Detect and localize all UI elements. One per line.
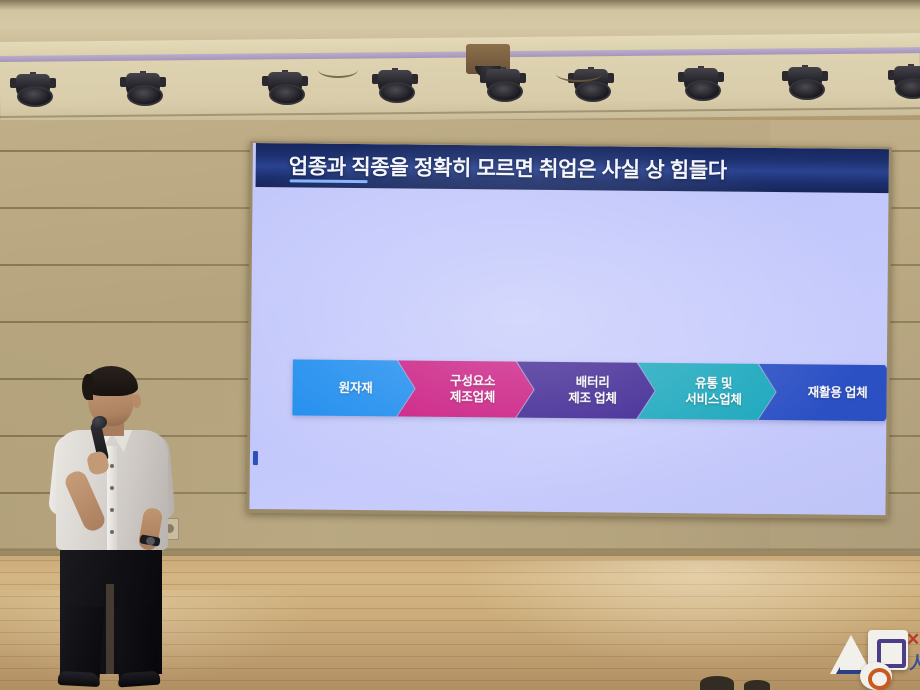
slide-surface: 업종과 직종을 정확히 모르면 취업은 사실 상 힘들다 원자재구성요소 제조업… bbox=[249, 143, 888, 515]
presenter-shirt-button bbox=[110, 486, 114, 490]
stage-par-light-8 bbox=[782, 65, 828, 99]
slide-title-underline bbox=[290, 179, 368, 183]
projection-screen: 업종과 직종을 정확히 모르면 취업은 사실 상 힘들다 원자재구성요소 제조업… bbox=[246, 141, 892, 519]
chevron-step-label: 유통 및 서비스업체 bbox=[685, 375, 742, 408]
presenter-hair-side bbox=[82, 374, 93, 400]
stage-par-light-1 bbox=[10, 72, 56, 106]
light-yoke-right bbox=[301, 76, 308, 86]
light-lens-icon bbox=[269, 84, 305, 105]
ceiling-shadow bbox=[0, 0, 920, 10]
light-yoke-right bbox=[519, 73, 526, 83]
chevron-step-label: 원자재 bbox=[339, 380, 373, 396]
stage-par-light-7 bbox=[678, 66, 724, 100]
light-lens-icon bbox=[487, 81, 523, 102]
light-lens-icon bbox=[575, 81, 611, 102]
presenter-leg-gap bbox=[106, 584, 114, 676]
audience-head bbox=[700, 676, 734, 690]
presenter-shirt-placket bbox=[107, 446, 117, 550]
light-yoke-right bbox=[717, 72, 724, 82]
presenter bbox=[36, 360, 186, 690]
chevron-process-diagram: 원자재구성요소 제조업체배터리 제조 업체유통 및 서비스업체재활용 업체 bbox=[292, 359, 889, 421]
chevron-step-5: 재활용 업체 bbox=[758, 364, 889, 421]
light-yoke-right bbox=[49, 78, 56, 88]
light-lens-icon bbox=[895, 78, 920, 99]
presenter-ear bbox=[132, 394, 141, 408]
light-cable bbox=[556, 66, 602, 82]
presenter-shirt-button bbox=[110, 508, 114, 512]
light-yoke-right bbox=[411, 74, 418, 84]
presenter-leg-left bbox=[59, 605, 104, 682]
light-yoke-right bbox=[607, 73, 614, 83]
light-lens-icon bbox=[127, 85, 163, 106]
stage-par-light-5 bbox=[480, 67, 526, 101]
chevron-step-label: 구성요소 제조업체 bbox=[450, 373, 496, 405]
stage-par-light-2 bbox=[120, 71, 166, 105]
stage-par-light-4 bbox=[372, 68, 418, 102]
light-lens-icon bbox=[17, 86, 53, 107]
slide-title-bar: 업종과 직종을 정확히 모르면 취업은 사실 상 힘들다 bbox=[256, 143, 889, 193]
chevron-step-label: 배터리 제조 업체 bbox=[568, 374, 617, 406]
presenter-shoe-left bbox=[58, 671, 101, 687]
presenter-shoe-right bbox=[118, 671, 161, 688]
chevron-step-label: 재활용 업체 bbox=[808, 384, 868, 401]
presenter-shirt-button bbox=[110, 464, 114, 468]
circle-glyph-inner-icon bbox=[868, 668, 891, 690]
light-yoke-right bbox=[821, 71, 828, 81]
stage-par-light-9 bbox=[888, 64, 920, 98]
chevron-step-2: 구성요소 제조업체 bbox=[397, 360, 534, 417]
audience-head bbox=[744, 680, 770, 690]
korean-letter-wall-sign: ✕ 人 bbox=[826, 624, 920, 690]
light-lens-icon bbox=[685, 80, 721, 101]
light-lens-icon bbox=[379, 82, 415, 103]
x-mark-icon: ✕ bbox=[906, 632, 920, 648]
presenter-shirt-button bbox=[110, 530, 114, 534]
auditorium-photo-scene: 업종과 직종을 정확히 모르면 취업은 사실 상 힘들다 원자재구성요소 제조업… bbox=[0, 0, 920, 690]
light-lens-icon bbox=[789, 79, 825, 100]
slide-edge-marker bbox=[253, 451, 258, 465]
person-mark-icon: 人 bbox=[909, 654, 920, 674]
light-yoke-right bbox=[159, 77, 166, 87]
chevron-step-4: 유통 및 서비스업체 bbox=[637, 363, 776, 420]
chevron-step-1: 원자재 bbox=[292, 359, 415, 416]
stage-par-light-3 bbox=[262, 70, 308, 104]
chevron-step-3: 배터리 제조 업체 bbox=[516, 362, 655, 419]
light-cable bbox=[318, 62, 358, 78]
